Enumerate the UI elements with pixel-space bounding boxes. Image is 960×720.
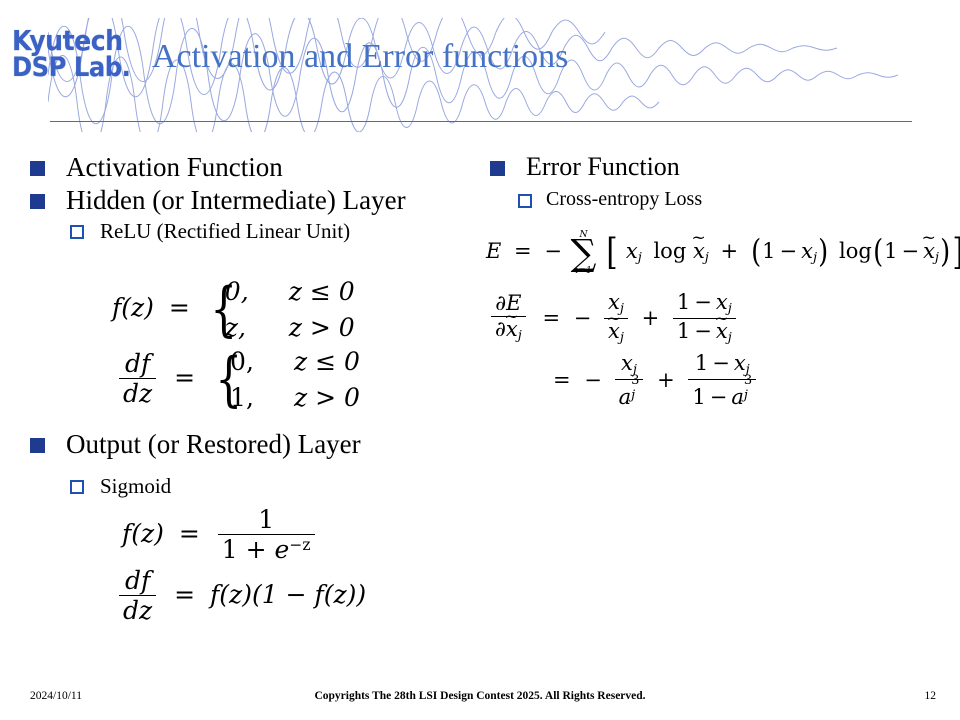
relu-derivative-numerator: df — [119, 350, 156, 377]
equation-partial-derivative: ∂E ∂~xj = − xj ~xj + 1−xj 1−~xj — [488, 292, 739, 346]
pd2-f2-den-minus: − — [710, 385, 728, 409]
ce-term2-sub: j — [813, 251, 817, 266]
hollow-square-bullet-icon — [518, 194, 532, 208]
pd-f2-num-minus: − — [694, 290, 712, 314]
ce-term1-xt-sub: j — [705, 251, 709, 266]
pd-lhs-fraction: ∂E ∂~xj — [491, 292, 526, 343]
pd2-f1-den-sub: j — [631, 389, 639, 402]
bullet-label: Hidden (or Intermediate) Layer — [66, 185, 406, 215]
bullet-error-function: Error Function — [484, 152, 954, 182]
sigmoid-denominator: 1 + e−z — [218, 534, 315, 563]
filled-square-bullet-icon — [30, 161, 45, 176]
left-content-column: Activation Function Hidden (or Intermedi… — [24, 152, 484, 245]
equation-cross-entropy: E = − N ∑ i=1 [ xj log ~xj + (1−xj) log(… — [486, 230, 960, 275]
ce-log-1: log — [653, 239, 686, 263]
sigmoid-lhs: f(z) — [122, 519, 164, 548]
pd2-f2-num-one: 1 — [695, 351, 708, 375]
bullet-cross-entropy-loss: Cross-entropy Loss — [484, 188, 954, 212]
open-paren-icon-2: ( — [873, 234, 883, 270]
relu-derivative-case-row-2: 1, z > 0 — [230, 380, 360, 416]
sigma-icon: ∑ — [571, 238, 597, 268]
relu-derivative-case-row-1: 0, z ≤ 0 — [230, 344, 360, 380]
equation-sigmoid-derivative: df dz = f(z)(1 − f(z)) — [116, 568, 366, 625]
relu-cases: { 0, z ≤ 0 z, z > 0 — [205, 274, 355, 345]
ce-minus: − — [544, 239, 562, 263]
sigmoid-fraction: 1 1 + e−z — [218, 506, 315, 563]
pd-f2-denominator: 1−~xj — [673, 318, 736, 346]
sigmoid-derivative-lhs-fraction: df dz — [119, 567, 156, 624]
pd2-f2-den-a: a — [731, 385, 744, 409]
pd-den-sub: j — [518, 329, 522, 344]
bullet-label: Error Function — [526, 152, 680, 181]
pd-denominator: ∂~xj — [491, 316, 526, 344]
hollow-square-bullet-icon — [70, 225, 84, 239]
pd-f2-den-one: 1 — [677, 319, 690, 343]
ce-lhs: E — [486, 239, 501, 263]
pd2-f1-num-x: x — [621, 351, 633, 375]
bullet-label: Cross-entropy Loss — [546, 188, 702, 210]
relu-derivative-case-condition-1: z ≤ 0 — [294, 347, 360, 376]
relu-lhs: f(z) — [112, 293, 154, 322]
bullet-relu: ReLU (Rectified Linear Unit) — [24, 219, 484, 244]
ce-term3-xtilde: ~x — [923, 239, 935, 263]
pd2-f2-den-sub: j — [744, 389, 752, 402]
ce-term3-minus: − — [901, 239, 919, 263]
left-brace-icon: { — [210, 280, 237, 339]
ce-term1-sub: j — [638, 251, 642, 266]
pd-f2-den-minus: − — [694, 319, 712, 343]
sigmoid-numerator: 1 — [218, 506, 315, 533]
tilde-accent-icon: ~ — [606, 311, 620, 328]
pd2-f1-den-sup: 3 — [631, 374, 639, 387]
tilde-accent-icon: ~ — [714, 311, 728, 328]
tilde-accent-icon: ~ — [504, 309, 518, 326]
bullet-label: Sigmoid — [100, 474, 171, 498]
pd2-f2-den-one: 1 — [692, 385, 705, 409]
relu-derivative-case-condition-2: z > 0 — [294, 383, 360, 412]
sigmoid-equals: = — [179, 519, 200, 548]
summation-operator: N ∑ i=1 — [571, 230, 597, 275]
hollow-square-bullet-icon — [70, 480, 84, 494]
ce-term3-sub: j — [935, 251, 939, 266]
pd-f1-denominator: ~xj — [604, 318, 628, 346]
close-paren-icon: ) — [818, 234, 828, 270]
relu-case-row-2: z, z > 0 — [225, 310, 355, 346]
pd-minus: − — [574, 306, 592, 330]
bullet-activation-function: Activation Function — [24, 152, 484, 183]
open-bracket-icon: [ — [607, 230, 618, 273]
bullet-label: Output (or Restored) Layer — [66, 429, 361, 459]
pd2-equals: = — [553, 368, 571, 392]
ce-term1-xtilde: ~x — [693, 239, 705, 263]
sigmoid-derivative-equals: = — [174, 580, 195, 609]
ce-term2-open: 1 — [762, 239, 775, 263]
footer-copyright: Copyrights The 28th LSI Design Contest 2… — [0, 690, 960, 702]
tilde-accent-icon: ~ — [691, 230, 705, 247]
ce-equals: = — [514, 239, 532, 263]
kyutech-dsp-lab-logo: Kyutech DSP Lab. — [12, 28, 152, 81]
logo-line-2: DSP Lab. — [12, 55, 152, 81]
close-paren-icon-2: ) — [940, 234, 950, 270]
title-divider — [50, 121, 912, 122]
relu-derivative-lhs-fraction: df dz — [119, 350, 156, 407]
relu-equals: = — [169, 293, 190, 322]
pd2-f2-den-sup: 3 — [744, 374, 752, 387]
pd2-f2-num-minus: − — [712, 351, 730, 375]
sigmoid-den-e: e — [275, 535, 290, 564]
right-content-column: Error Function Cross-entropy Loss E = − … — [484, 152, 954, 214]
relu-derivative-cases: { 0, z ≤ 0 1, z > 0 — [210, 344, 360, 415]
bullet-hidden-layer: Hidden (or Intermediate) Layer — [24, 185, 484, 216]
ce-plus: + — [721, 239, 739, 263]
ce-term3-one: 1 — [884, 239, 897, 263]
bullet-output-layer: Output (or Restored) Layer — [24, 429, 361, 460]
equation-relu: f(z) = { 0, z ≤ 0 z, z > 0 — [112, 274, 355, 345]
pd2-f2-denominator: 1−a3j — [688, 379, 756, 409]
pd-den-xtilde: ~x — [506, 318, 518, 341]
page-title: Activation and Error functions — [152, 38, 922, 76]
sigmoid-derivative-denominator: dz — [119, 595, 156, 624]
pd2-fraction-2: 1−xj 1−a3j — [688, 352, 756, 408]
pd2-f2-den-subsup: 3j — [744, 382, 752, 408]
pd2-f1-denominator: a3j — [615, 379, 644, 409]
slide-header: Kyutech DSP Lab. Activation and Error fu… — [0, 0, 960, 132]
pd2-f1-den-a: a — [619, 385, 632, 409]
pd2-minus: − — [584, 368, 602, 392]
pd2-f1-den-subsup: 3j — [631, 382, 639, 408]
filled-square-bullet-icon — [30, 194, 45, 209]
equation-partial-derivative-expanded: = − xj a3j + 1−xj 1−a3j — [546, 353, 759, 409]
relu-case-condition-1: z ≤ 0 — [289, 277, 355, 306]
sigmoid-den-exponent: −z — [289, 536, 310, 554]
slide-canvas: Kyutech DSP Lab. Activation and Error fu… — [0, 0, 960, 720]
footer-page-number: 12 — [925, 690, 937, 702]
close-bracket-icon: ] — [953, 230, 960, 273]
relu-case-condition-2: z > 0 — [289, 313, 355, 342]
ce-term2-x: x — [801, 239, 813, 263]
logo-line-1: Kyutech — [12, 28, 152, 55]
pd2-fraction-1: xj a3j — [615, 352, 644, 408]
filled-square-bullet-icon — [490, 161, 505, 176]
pd-fraction-2: 1−xj 1−~xj — [673, 291, 736, 345]
pd-f1-den-sub: j — [620, 330, 624, 345]
relu-derivative-equals: = — [174, 363, 195, 392]
pd-f2-num-one: 1 — [677, 290, 690, 314]
slide-footer: 2024/10/11 Copyrights The 28th LSI Desig… — [0, 680, 960, 720]
sigmoid-den-one: 1 + — [222, 535, 275, 564]
relu-case-row-1: 0, z ≤ 0 — [225, 274, 355, 310]
equation-sigmoid: f(z) = 1 1 + e−z — [122, 507, 318, 564]
bullet-label: Activation Function — [66, 152, 283, 182]
sigmoid-derivative-rhs: f(z)(1 − f(z)) — [210, 580, 366, 609]
bullet-sigmoid: Sigmoid — [24, 474, 171, 499]
pd2-plus: + — [657, 368, 675, 392]
relu-derivative-denominator: dz — [119, 378, 156, 407]
bullet-label: ReLU (Rectified Linear Unit) — [100, 219, 350, 243]
sigmoid-derivative-numerator: df — [119, 567, 156, 594]
filled-square-bullet-icon — [30, 438, 45, 453]
equation-relu-derivative: df dz = { 0, z ≤ 0 1, z > 0 — [116, 344, 360, 415]
ce-term1-x: x — [626, 239, 638, 263]
pd-plus: + — [642, 306, 660, 330]
left-brace-icon: { — [215, 350, 242, 409]
pd2-f2-num-x: x — [734, 351, 746, 375]
open-paren-icon: ( — [751, 234, 761, 270]
ce-log-2: log — [839, 239, 872, 263]
pd-f2-den-xtilde: ~x — [716, 320, 728, 343]
pd-equals: = — [542, 306, 560, 330]
ce-term2-minus: − — [780, 239, 798, 263]
tilde-accent-icon: ~ — [922, 230, 936, 247]
pd-f1-den-xtilde: ~x — [608, 320, 620, 343]
pd-f2-den-sub: j — [728, 330, 732, 345]
pd-fraction-1: xj ~xj — [604, 291, 628, 345]
